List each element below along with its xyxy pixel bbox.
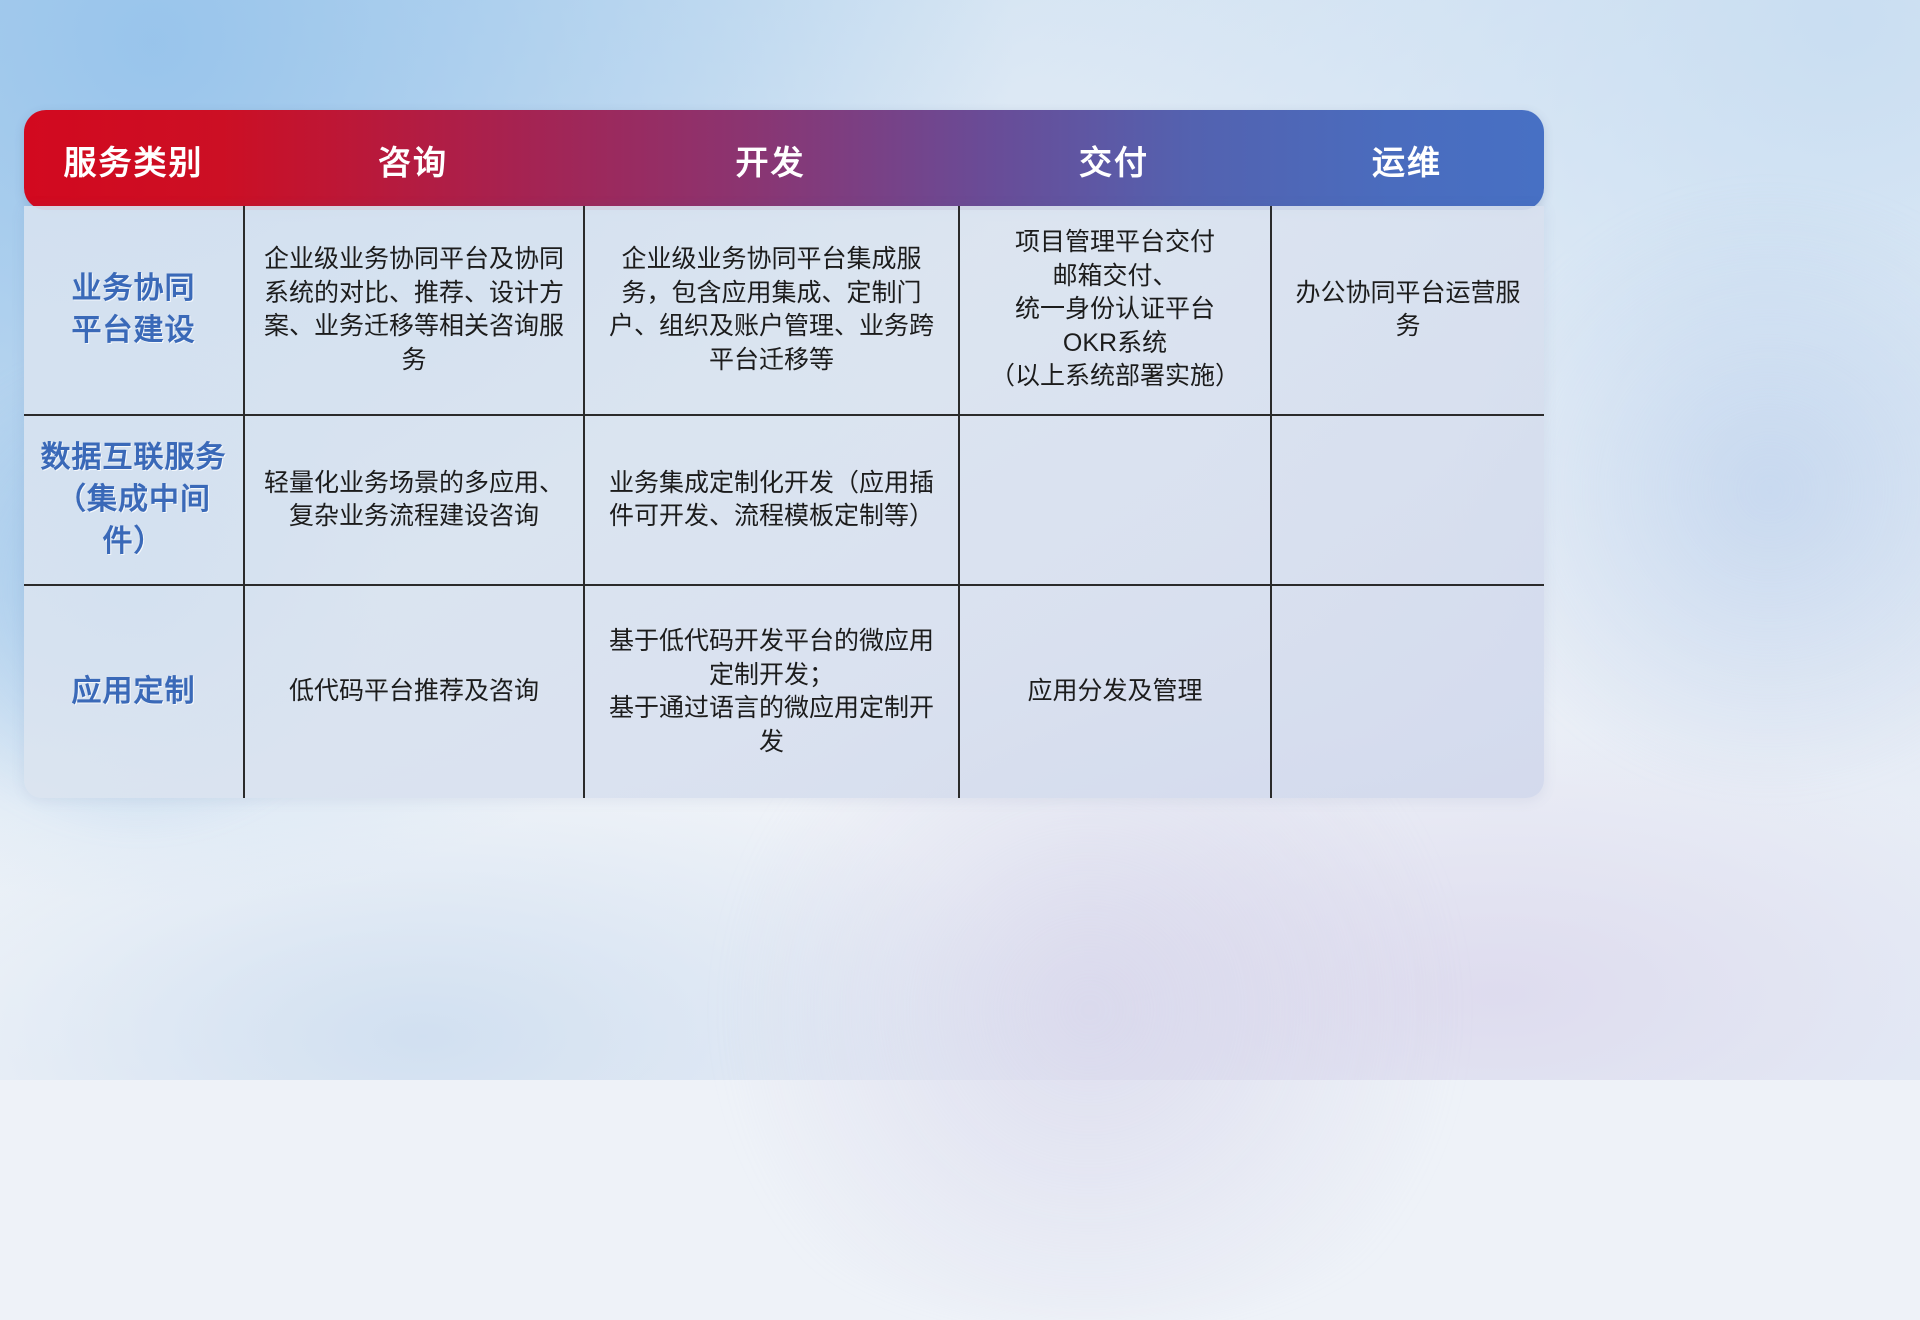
cell-consulting: 轻量化业务场景的多应用、复杂业务流程建设咨询 — [243, 416, 583, 584]
cell-development: 业务集成定制化开发（应用插件可开发、流程模板定制等） — [583, 416, 958, 584]
cell-operations — [1270, 416, 1544, 584]
cell-development: 企业级业务协同平台集成服务，包含应用集成、定制门户、组织及账户管理、业务跨平台迁… — [583, 206, 958, 414]
cell-delivery: 应用分发及管理 — [958, 586, 1270, 798]
table-body: 业务协同 平台建设 企业级业务协同平台及协同系统的对比、推荐、设计方案、业务迁移… — [24, 206, 1544, 798]
column-header-consulting: 咨询 — [243, 136, 583, 184]
row-category-label: 业务协同 平台建设 — [24, 206, 243, 414]
cell-consulting: 企业级业务协同平台及协同系统的对比、推荐、设计方案、业务迁移等相关咨询服务 — [243, 206, 583, 414]
table-row: 业务协同 平台建设 企业级业务协同平台及协同系统的对比、推荐、设计方案、业务迁移… — [24, 206, 1544, 414]
cell-operations: 办公协同平台运营服务 — [1270, 206, 1544, 414]
row-category-label: 应用定制 — [24, 586, 243, 798]
column-header-operations: 运维 — [1270, 136, 1544, 184]
table-row: 数据互联服务 （集成中间件） 轻量化业务场景的多应用、复杂业务流程建设咨询 业务… — [24, 414, 1544, 584]
cell-delivery — [958, 416, 1270, 584]
table-header-row: 服务类别 咨询 开发 交付 运维 — [24, 110, 1544, 210]
cell-development: 基于低代码开发平台的微应用定制开发； 基于通过语言的微应用定制开发 — [583, 586, 958, 798]
column-header-development: 开发 — [583, 136, 958, 184]
column-header-category: 服务类别 — [24, 136, 243, 184]
service-matrix-table: 服务类别 咨询 开发 交付 运维 业务协同 平台建设 企业级业务协同平台及协同系… — [24, 110, 1544, 798]
column-header-delivery: 交付 — [958, 136, 1270, 184]
cell-operations — [1270, 586, 1544, 798]
cell-delivery: 项目管理平台交付 邮箱交付、 统一身份认证平台 OKR系统 （以上系统部署实施） — [958, 206, 1270, 414]
table-row: 应用定制 低代码平台推荐及咨询 基于低代码开发平台的微应用定制开发； 基于通过语… — [24, 584, 1544, 798]
cell-consulting: 低代码平台推荐及咨询 — [243, 586, 583, 798]
slide-canvas: 服务类别 咨询 开发 交付 运维 业务协同 平台建设 企业级业务协同平台及协同系… — [0, 0, 1920, 1080]
row-category-label: 数据互联服务 （集成中间件） — [24, 416, 243, 584]
